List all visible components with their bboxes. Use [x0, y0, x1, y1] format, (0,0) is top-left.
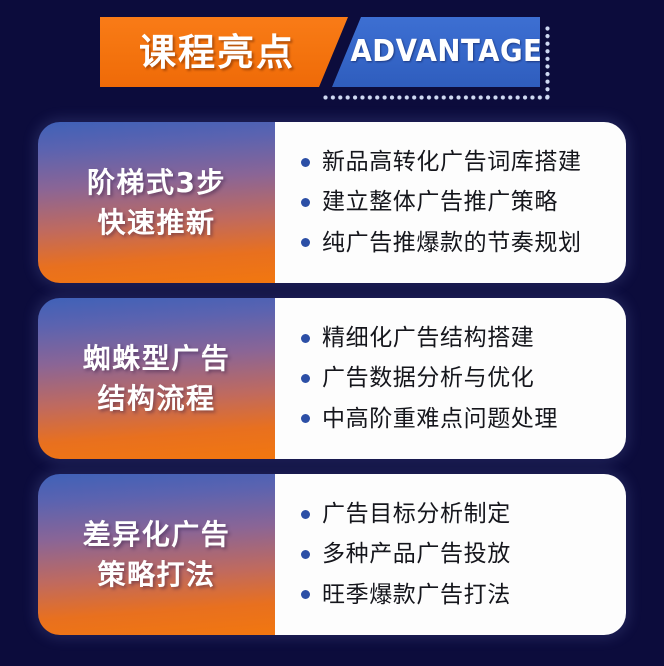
list-item-label: 中高阶重难点问题处理 [322, 405, 558, 433]
list-item-label: 广告数据分析与优化 [322, 364, 534, 392]
highlight-card: 差异化广告 策略打法 广告目标分析制定 多种产品广告投放 旺季爆款广告打法 [38, 474, 626, 635]
highlight-card-list: 阶梯式3步 快速推新 新品高转化广告词库搭建 建立整体广告推广策略 纯广告推爆款… [0, 0, 664, 666]
bullet-dot-icon [301, 374, 310, 383]
bullet-dot-icon [301, 510, 310, 519]
highlight-card: 蜘蛛型广告 结构流程 精细化广告结构搭建 广告数据分析与优化 中高阶重难点问题处… [38, 298, 626, 459]
list-item: 多种产品广告投放 [301, 540, 511, 568]
list-item-label: 新品高转化广告词库搭建 [322, 148, 582, 176]
list-item: 建立整体广告推广策略 [301, 188, 558, 216]
list-item-label: 多种产品广告投放 [322, 540, 511, 568]
card-bullet-panel: 新品高转化广告词库搭建 建立整体广告推广策略 纯广告推爆款的节奏规划 [275, 122, 626, 283]
bullet-dot-icon [301, 550, 310, 559]
bullet-dot-icon [301, 198, 310, 207]
card-title-line2: 结构流程 [97, 379, 215, 419]
list-item-label: 精细化广告结构搭建 [322, 324, 534, 352]
card-title-line1: 蜘蛛型广告 [83, 339, 231, 379]
card-title-line2: 策略打法 [97, 555, 215, 595]
card-title-line2: 快速推新 [97, 203, 215, 243]
list-item-label: 旺季爆款广告打法 [322, 581, 511, 609]
list-item: 中高阶重难点问题处理 [301, 405, 558, 433]
list-item-label: 纯广告推爆款的节奏规划 [322, 229, 582, 257]
bullet-dot-icon [301, 590, 310, 599]
list-item: 广告数据分析与优化 [301, 364, 534, 392]
card-title-panel: 蜘蛛型广告 结构流程 [38, 298, 275, 459]
list-item: 新品高转化广告词库搭建 [301, 148, 582, 176]
bullet-dot-icon [301, 238, 310, 247]
list-item: 旺季爆款广告打法 [301, 581, 511, 609]
card-bullet-panel: 精细化广告结构搭建 广告数据分析与优化 中高阶重难点问题处理 [275, 298, 626, 459]
card-title-line1: 阶梯式3步 [87, 163, 226, 203]
bullet-dot-icon [301, 334, 310, 343]
list-item-label: 建立整体广告推广策略 [322, 188, 558, 216]
list-item-label: 广告目标分析制定 [322, 500, 511, 528]
card-title-line1: 差异化广告 [83, 515, 231, 555]
bullet-dot-icon [301, 158, 310, 167]
list-item: 精细化广告结构搭建 [301, 324, 534, 352]
bullet-dot-icon [301, 414, 310, 423]
highlight-card: 阶梯式3步 快速推新 新品高转化广告词库搭建 建立整体广告推广策略 纯广告推爆款… [38, 122, 626, 283]
card-title-panel: 差异化广告 策略打法 [38, 474, 275, 635]
list-item: 纯广告推爆款的节奏规划 [301, 229, 582, 257]
card-title-panel: 阶梯式3步 快速推新 [38, 122, 275, 283]
card-bullet-panel: 广告目标分析制定 多种产品广告投放 旺季爆款广告打法 [275, 474, 626, 635]
list-item: 广告目标分析制定 [301, 500, 511, 528]
